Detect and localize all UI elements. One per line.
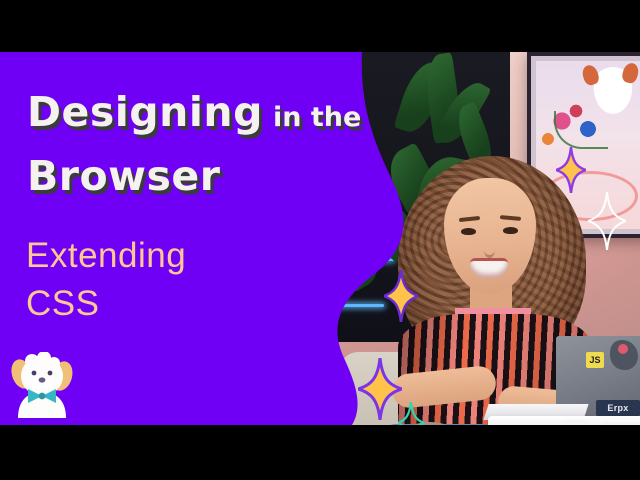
sparkle-arm <box>358 358 402 420</box>
sparkle-plants <box>384 270 418 322</box>
sparkle-teal-small <box>398 402 424 425</box>
video-player-stage: JS Erpx CEN x x <box>0 0 640 480</box>
video-frame: JS Erpx CEN x x <box>0 52 640 425</box>
subtitle-line-2: CSS <box>26 284 99 324</box>
dog-mascot-logo <box>6 352 80 425</box>
sparkle-poster-white <box>588 192 626 250</box>
letterbox-top <box>0 0 640 52</box>
title-small-words: in the <box>273 102 361 133</box>
subtitle-line-1: Extending <box>26 236 186 276</box>
sparkle-poster-gold <box>556 147 586 193</box>
page-title-line-2: Browser <box>27 152 220 200</box>
page-title-line-1: Designingin the <box>27 88 361 136</box>
title-main-word: Designing <box>27 88 263 136</box>
letterbox-bottom <box>0 425 640 480</box>
